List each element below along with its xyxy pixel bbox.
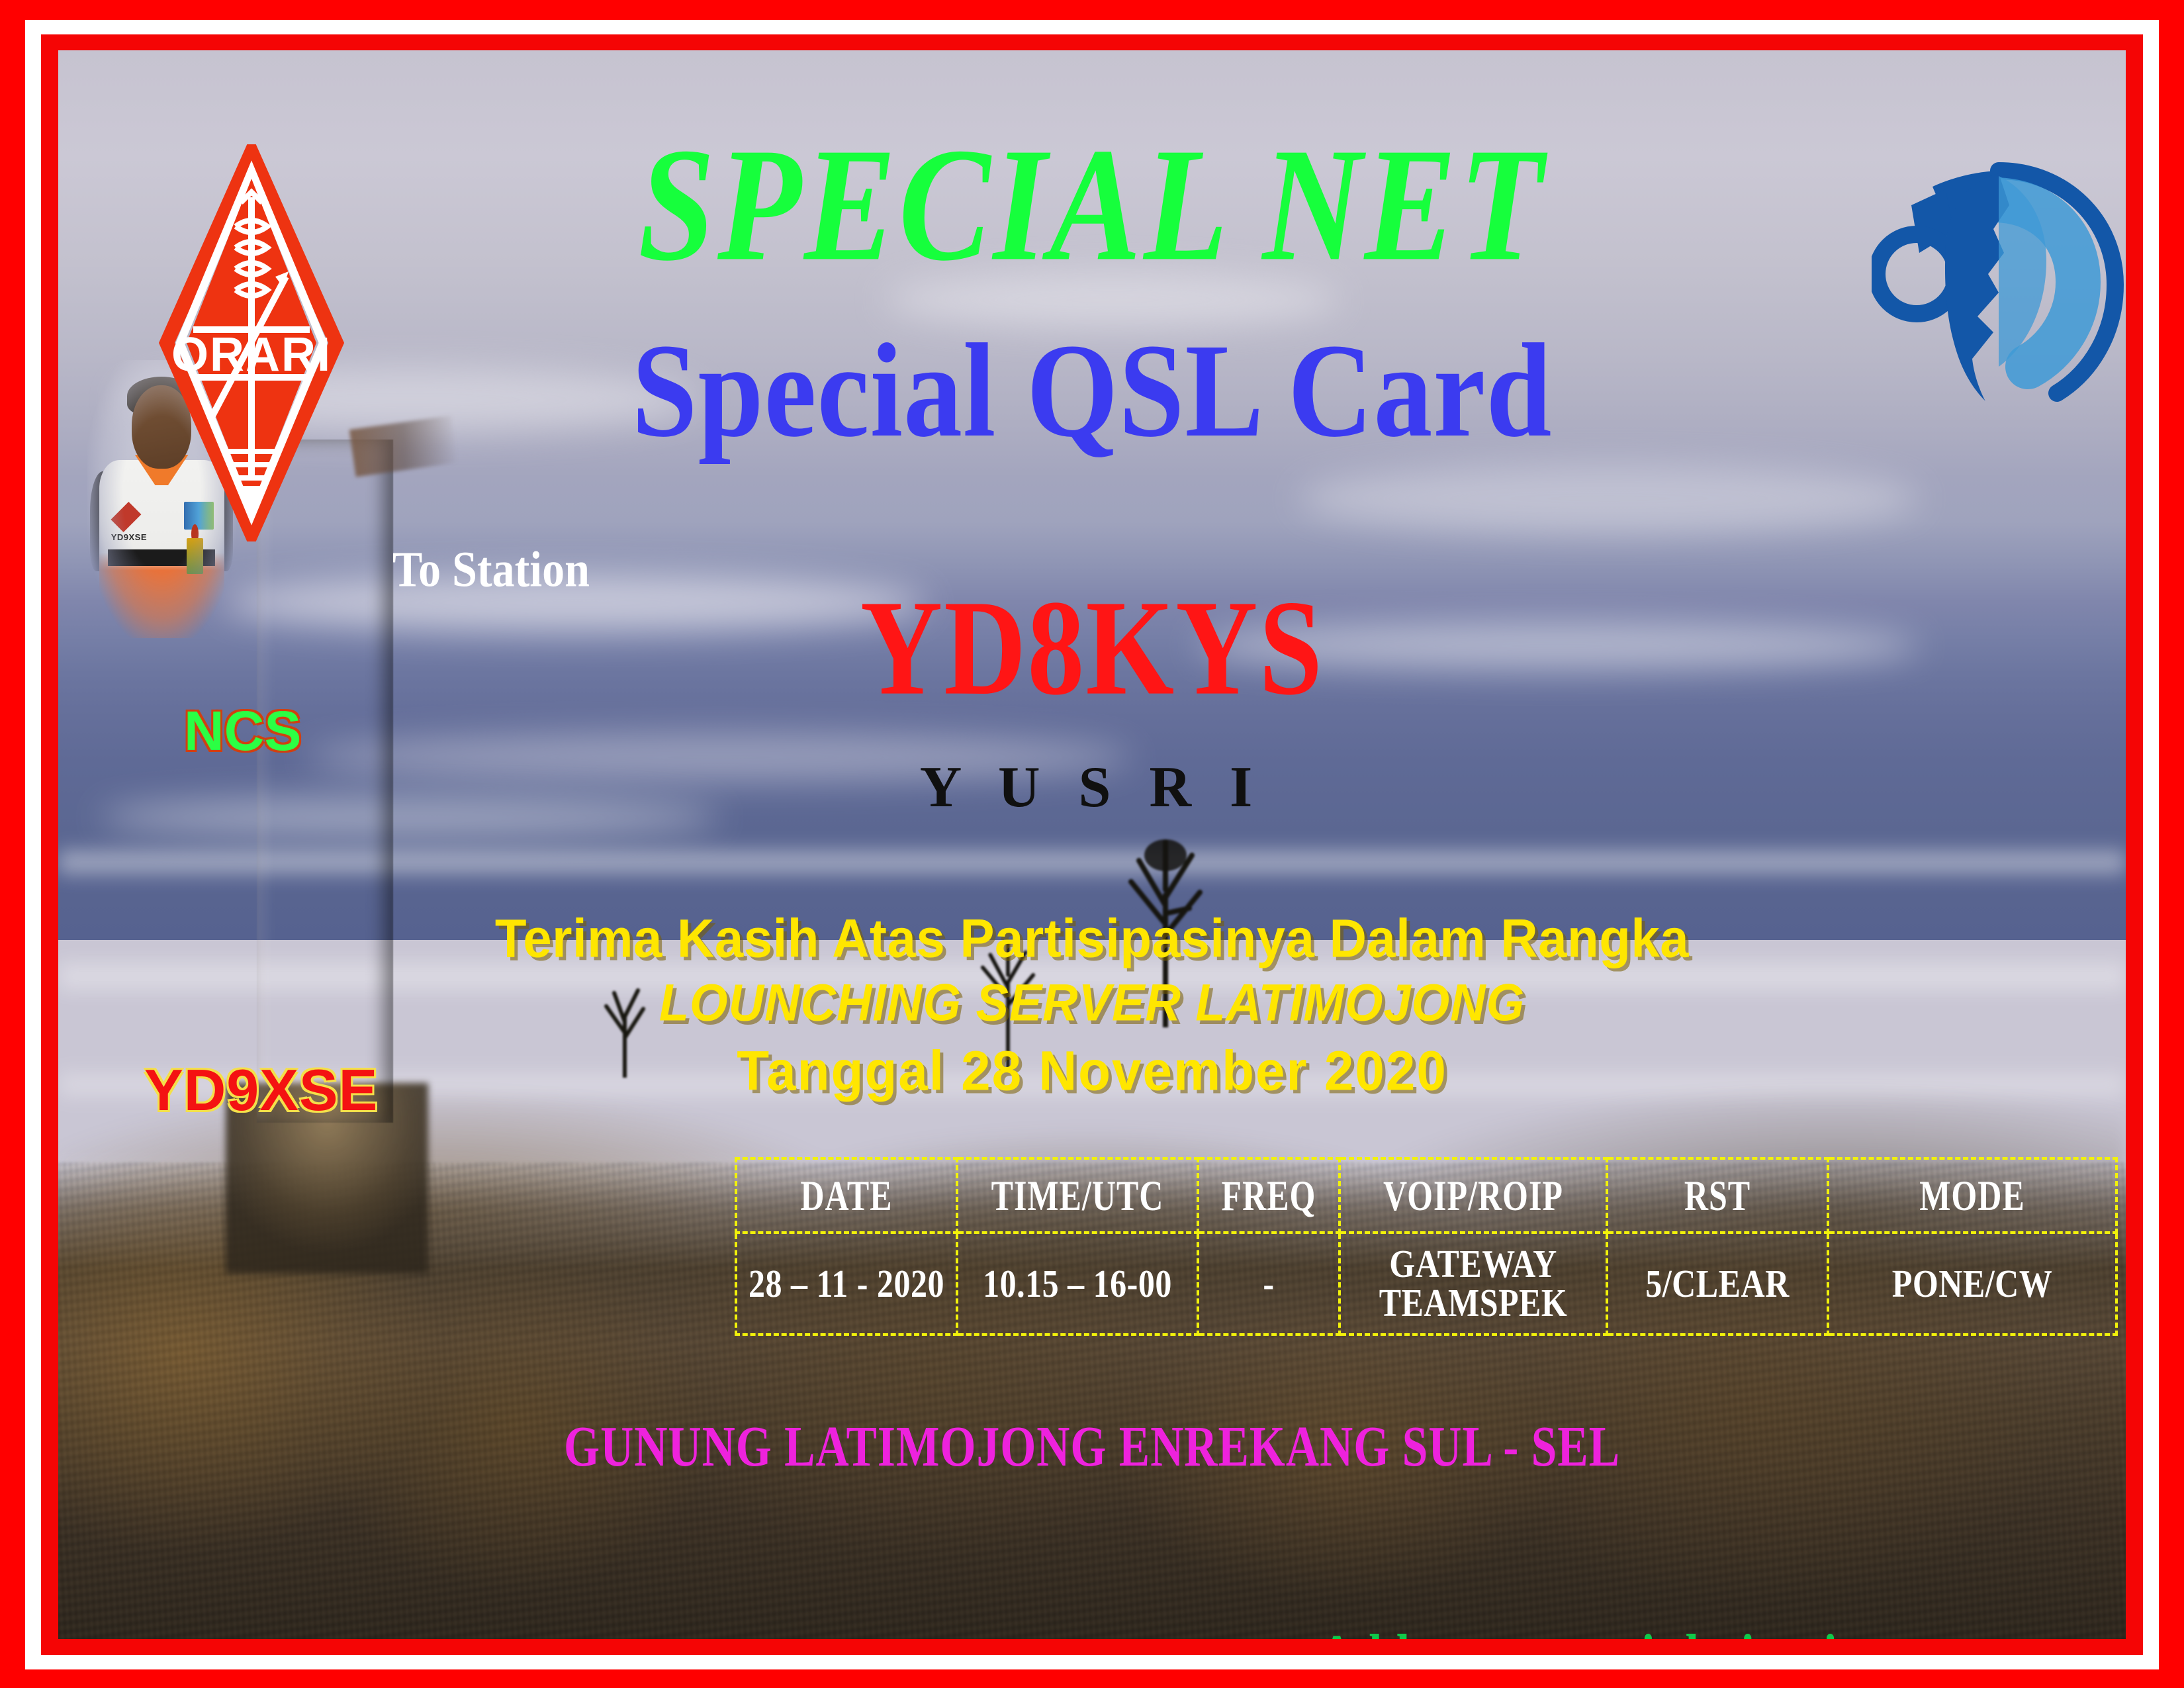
cell-time: 10.15 – 16-00: [957, 1233, 1198, 1335]
card-title: SPECIAL NET: [58, 123, 2126, 285]
card-photo-background: YD9XSE ORARI: [58, 50, 2126, 1639]
ncs-callsign: YD9XSE: [144, 1056, 378, 1124]
col-header-freq: FREQ: [1198, 1154, 1340, 1236]
card-subtitle: Special QSL Card: [58, 323, 2126, 457]
thanks-message: Terima Kasih Atas Partisipasinya Dalam R…: [58, 911, 2126, 965]
photo-id-badge: [187, 538, 203, 575]
cell-mode: PONE/CW: [1828, 1233, 2116, 1335]
cloud-streak: [1298, 463, 1919, 534]
qso-log-table: DATE TIME/UTC FREQ VOIP/ROIP RST MODE 28…: [735, 1157, 2118, 1336]
ncs-label: NCS: [184, 699, 301, 763]
photo-callsign-embroidery: YD9XSE: [111, 532, 147, 542]
col-header-time: TIME/UTC: [957, 1154, 1198, 1236]
table-header-row: DATE TIME/UTC FREQ VOIP/ROIP RST MODE: [736, 1158, 2116, 1233]
station-callsign: YD8KYS: [58, 580, 2126, 716]
table-row: 28 – 11 - 2020 10.15 – 16-00 - GATEWAY T…: [736, 1233, 2116, 1335]
qth-location: GUNUNG LATIMOJONG ENREKANG SUL - SEL: [120, 1414, 2064, 1480]
col-header-mode: MODE: [1828, 1154, 2116, 1236]
event-name: LOUNCHING SERVER LATIMOJONG: [58, 977, 2126, 1029]
qsl-card: YD9XSE ORARI: [0, 0, 2184, 1688]
cell-date: 28 – 11 - 2020: [736, 1233, 957, 1335]
web-address: Address : amatir.latimojong.com: [1319, 1620, 2015, 1639]
col-header-rst: RST: [1607, 1154, 1828, 1236]
col-header-voip: VOIP/ROIP: [1340, 1154, 1607, 1236]
col-header-date: DATE: [736, 1154, 957, 1236]
cell-voip: GATEWAY TEAMSPEK: [1340, 1233, 1607, 1335]
cell-rst: 5/CLEAR: [1607, 1233, 1828, 1335]
operator-name: Y U S R I: [58, 759, 2126, 817]
club-motto: "AMATIR RADIO ADALAH PROGRESIVE": [136, 1626, 1085, 1639]
cell-freq: -: [1198, 1233, 1340, 1335]
